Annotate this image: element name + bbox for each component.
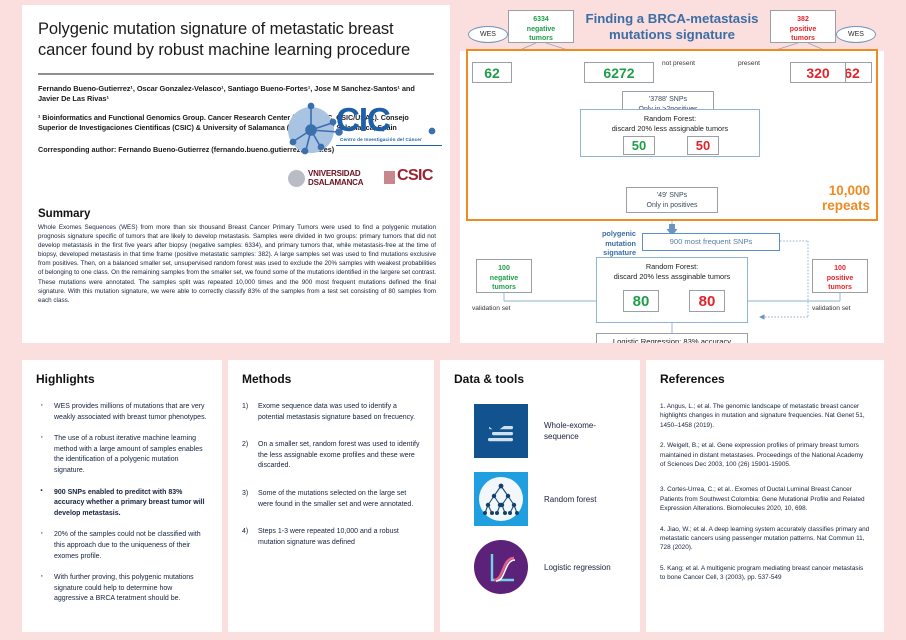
- list-item: 1) Exome sequence data was used to ident…: [242, 402, 420, 423]
- usal-wordmark: VNIVERSIDAD DSALAMANCA: [308, 169, 363, 187]
- tool-item-lr: Logistic regression: [454, 540, 626, 594]
- sequence-lines-icon: [474, 404, 528, 458]
- usal-line-2: DSALAMANCA: [308, 178, 363, 187]
- validation-positive-label-2: tumors: [813, 283, 867, 293]
- references-heading: References: [660, 372, 870, 386]
- reference-item: 3. Cortes-Urrea, C.; et al.. Exomes of D…: [660, 485, 870, 513]
- cic-wordmark: CIC: [336, 101, 390, 139]
- repeats-label: 10,000 repeats: [822, 183, 870, 213]
- tools-panel: Data & tools Whole-exome-sequence: [440, 360, 640, 632]
- signature-caption-1: polygenic: [576, 229, 636, 239]
- csic-wordmark: CSIC: [397, 167, 433, 185]
- negatives-6272-box: 6272: [584, 62, 654, 83]
- negative-tumors-label-2: tumors: [509, 34, 573, 44]
- usal-logo: VNIVERSIDAD DSALAMANCA: [288, 167, 374, 193]
- negative-tumors-count: 6334: [509, 15, 573, 25]
- validation-positive-count: 100: [813, 264, 867, 274]
- validation-set-right-label: validation set: [812, 305, 851, 312]
- poster-root: Polygenic mutation signature of metastat…: [0, 0, 906, 640]
- repeats-count: 10,000: [822, 183, 870, 198]
- negative-tumors-label-1: negative: [509, 25, 573, 35]
- logistic-regression-icon: [474, 540, 528, 594]
- sigmoid-curve-icon: [474, 540, 528, 594]
- list-item: WES provides millions of mutations that …: [36, 402, 208, 423]
- method-number: 3): [242, 489, 248, 500]
- tree-nodes-icon: [474, 472, 528, 526]
- bottom-row: Highlights WES provides millions of muta…: [0, 356, 906, 636]
- list-item: 3) Some of the mutations selected on the…: [242, 489, 420, 510]
- top-row: Polygenic mutation signature of metastat…: [0, 0, 906, 348]
- title-card: Polygenic mutation signature of metastat…: [22, 5, 450, 343]
- summary-heading: Summary: [38, 208, 90, 220]
- method-text: On a smaller set, random forest was used…: [258, 441, 419, 469]
- positive-tumors-label-1: positive: [771, 25, 835, 35]
- list-item: 20% of the samples could not be classifi…: [36, 530, 208, 562]
- csic-logo: CSIC: [384, 167, 448, 191]
- list-item: The use of a robust iterative machine le…: [36, 434, 208, 476]
- random-forest-1-title: Random Forest:: [581, 110, 759, 124]
- reference-item: 4. Jiao, W.; et al. A deep learning syst…: [660, 525, 870, 553]
- wes-right-label: WES: [836, 26, 876, 43]
- validation-negative-label-1: negative: [477, 274, 531, 284]
- validation-negative-box: 100 negative tumors: [476, 259, 532, 293]
- positive-tumors-box: 382 positive tumors: [770, 10, 836, 43]
- snp-3788-line-1: '3788' SNPs: [623, 95, 713, 105]
- validation-negative-count: 100: [477, 264, 531, 274]
- list-item: With further proving, this polygenic mut…: [36, 573, 208, 605]
- method-text: Some of the mutations selected on the la…: [258, 490, 413, 508]
- reference-item: 5. Kang; et al. A multigenic program med…: [660, 564, 870, 583]
- positives-320-box: 320: [790, 62, 846, 83]
- snp-49-line-1: '49' SNPs: [627, 191, 717, 201]
- rf2-red-80: 80: [689, 290, 725, 312]
- cic-underline: [336, 145, 442, 146]
- method-text: Exome sequence data was used to identify…: [258, 403, 415, 421]
- random-forest-1-subtitle: discard 20% less assignable tumors: [581, 124, 759, 134]
- method-text: Steps 1-3 were repeated 10,000 and a rob…: [258, 528, 399, 546]
- validation-negative-label-2: tumors: [477, 283, 531, 293]
- method-number: 4): [242, 527, 248, 538]
- flowchart-card: Finding a BRCA-metastasis mutations sign…: [460, 5, 884, 343]
- tool-item-wes: Whole-exome-sequence: [454, 404, 626, 458]
- random-forest-2-title: Random Forest:: [597, 258, 747, 272]
- random-forest-1-box: Random Forest: discard 20% less assignab…: [580, 109, 760, 157]
- tool-label: Logistic regression: [544, 562, 611, 573]
- signature-caption-2: mutation: [576, 239, 636, 249]
- snp-49-box: '49' SNPs Only in positives: [626, 187, 718, 213]
- tool-label: Whole-exome-sequence: [544, 420, 626, 442]
- random-forest-2-subtitle: discard 20% less assginable tumors: [597, 272, 747, 282]
- validation-positive-box: 100 positive tumors: [812, 259, 868, 293]
- left-62-box: 62: [472, 62, 512, 83]
- random-forest-icon: [474, 472, 528, 526]
- list-item: 4) Steps 1-3 were repeated 10,000 and a …: [242, 527, 420, 548]
- negative-tumors-box: 6334 negative tumors: [508, 10, 574, 43]
- repeats-word: repeats: [822, 198, 870, 213]
- reference-item: 1. Angus, L.; et al. The genomic landsca…: [660, 402, 870, 430]
- list-item: 900 SNPs enabled to preditct with 83% ac…: [36, 488, 208, 520]
- logo-block: CIC Centro de Investigación del Cáncer V…: [280, 101, 448, 201]
- logistic-regression-box: Logistic Regression: 83% accuracy: [596, 333, 748, 343]
- whole-exome-sequence-icon: [474, 404, 528, 458]
- snp-49-line-2: Only in positives: [627, 201, 717, 211]
- page-title: Polygenic mutation signature of metastat…: [38, 19, 434, 61]
- rf2-green-80: 80: [623, 290, 659, 312]
- usal-seal-icon: [288, 170, 305, 187]
- highlights-panel: Highlights WES provides millions of muta…: [22, 360, 222, 632]
- references-panel: References 1. Angus, L.; et al. The geno…: [646, 360, 884, 632]
- tool-item-rf: Random forest: [454, 472, 626, 526]
- methods-list: 1) Exome sequence data was used to ident…: [242, 402, 420, 548]
- list-item: 2) On a smaller set, random forest was u…: [242, 440, 420, 472]
- cic-tagline: Centro de Investigación del Cáncer: [340, 137, 422, 142]
- summary-body: Whole Exomes Sequences (WES) from more t…: [38, 223, 436, 305]
- rf1-green-50: 50: [623, 136, 655, 155]
- cic-logo: CIC Centro de Investigación del Cáncer: [280, 101, 445, 163]
- signature-caption: polygenic mutation signature: [576, 229, 636, 258]
- rf1-red-50: 50: [687, 136, 719, 155]
- methods-heading: Methods: [242, 372, 420, 386]
- positive-tumors-count: 382: [771, 15, 835, 25]
- signature-box: 900 most frequent SNPs: [642, 233, 780, 251]
- highlights-list: WES provides millions of mutations that …: [36, 402, 208, 605]
- method-number: 2): [242, 440, 248, 451]
- present-label: present: [738, 60, 760, 67]
- reference-item: 2. Weigelt, B.; et al. Gene expression p…: [660, 441, 870, 469]
- title-divider: [38, 73, 434, 75]
- random-forest-2-box: Random Forest: discard 20% less assginab…: [596, 257, 748, 323]
- positive-tumors-label-2: tumors: [771, 34, 835, 44]
- tools-heading: Data & tools: [454, 372, 626, 386]
- highlights-heading: Highlights: [36, 372, 208, 386]
- validation-positive-label-1: positive: [813, 274, 867, 284]
- not-present-label: not present: [662, 60, 695, 67]
- methods-panel: Methods 1) Exome sequence data was used …: [228, 360, 434, 632]
- method-number: 1): [242, 402, 248, 413]
- tool-label: Random forest: [544, 494, 596, 505]
- wes-left-label: WES: [468, 26, 508, 43]
- usal-line-1: VNIVERSIDAD: [308, 169, 363, 178]
- validation-set-left-label: validation set: [472, 305, 511, 312]
- flowchart-title: Finding a BRCA-metastasis mutations sign…: [572, 11, 772, 43]
- csic-mark-icon: [384, 171, 395, 184]
